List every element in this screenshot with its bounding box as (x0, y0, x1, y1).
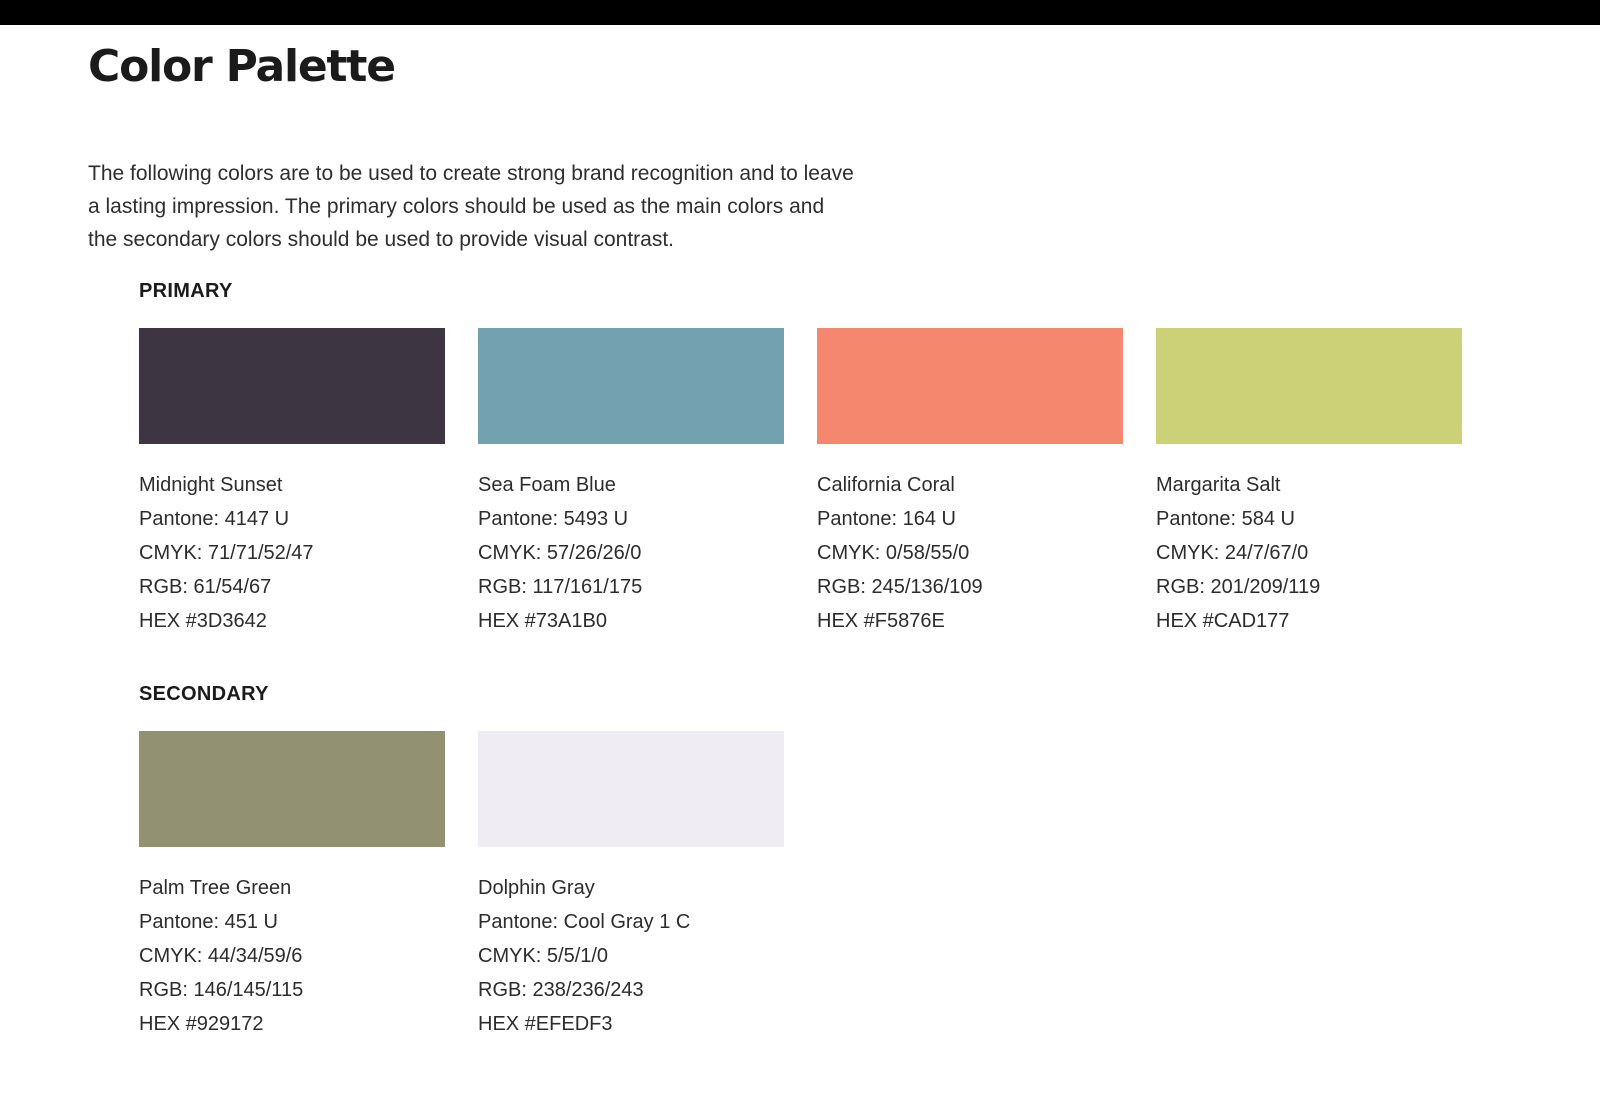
swatch-row-secondary: Palm Tree Green Pantone: 451 U CMYK: 44/… (139, 731, 784, 1041)
intro-line-1: The following colors are to be used to c… (88, 157, 988, 190)
swatch-card[interactable]: Palm Tree Green Pantone: 451 U CMYK: 44/… (139, 731, 445, 1041)
section-primary: PRIMARY Midnight Sunset Pantone: 4147 U … (139, 280, 1462, 638)
swatch-name: Palm Tree Green (139, 871, 445, 905)
swatch-name: Midnight Sunset (139, 468, 445, 502)
section-heading-primary: PRIMARY (139, 280, 1462, 303)
swatch-rgb: RGB: 117/161/175 (478, 570, 784, 604)
swatch-chip[interactable] (139, 731, 445, 847)
swatch-cmyk: CMYK: 57/26/26/0 (478, 536, 784, 570)
swatch-rgb: RGB: 146/145/115 (139, 973, 445, 1007)
section-heading-secondary: SECONDARY (139, 683, 784, 706)
swatch-rgb: RGB: 201/209/119 (1156, 570, 1462, 604)
top-black-bar (0, 0, 1600, 25)
swatch-hex: HEX #F5876E (817, 604, 1123, 638)
swatch-card[interactable]: Sea Foam Blue Pantone: 5493 U CMYK: 57/2… (478, 328, 784, 638)
swatch-rgb: RGB: 238/236/243 (478, 973, 784, 1007)
swatch-pantone: Pantone: 164 U (817, 502, 1123, 536)
swatch-pantone: Pantone: Cool Gray 1 C (478, 905, 784, 939)
swatch-name: Margarita Salt (1156, 468, 1462, 502)
swatch-cmyk: CMYK: 24/7/67/0 (1156, 536, 1462, 570)
swatch-card[interactable]: Dolphin Gray Pantone: Cool Gray 1 C CMYK… (478, 731, 784, 1041)
swatch-pantone: Pantone: 5493 U (478, 502, 784, 536)
swatch-info: Margarita Salt Pantone: 584 U CMYK: 24/7… (1156, 468, 1462, 638)
swatch-rgb: RGB: 61/54/67 (139, 570, 445, 604)
swatch-pantone: Pantone: 4147 U (139, 502, 445, 536)
swatch-name: Sea Foam Blue (478, 468, 784, 502)
intro-line-3: the secondary colors should be used to p… (88, 223, 988, 256)
intro-paragraph: The following colors are to be used to c… (88, 157, 988, 256)
swatch-info: Sea Foam Blue Pantone: 5493 U CMYK: 57/2… (478, 468, 784, 638)
swatch-pantone: Pantone: 584 U (1156, 502, 1462, 536)
color-palette-page: Color Palette The following colors are t… (0, 25, 1600, 1100)
swatch-row-primary: Midnight Sunset Pantone: 4147 U CMYK: 71… (139, 328, 1462, 638)
swatch-hex: HEX #73A1B0 (478, 604, 784, 638)
swatch-chip[interactable] (139, 328, 445, 444)
swatch-cmyk: CMYK: 44/34/59/6 (139, 939, 445, 973)
swatch-hex: HEX #EFEDF3 (478, 1007, 784, 1041)
swatch-name: Dolphin Gray (478, 871, 784, 905)
swatch-info: Midnight Sunset Pantone: 4147 U CMYK: 71… (139, 468, 445, 638)
intro-line-2: a lasting impression. The primary colors… (88, 190, 988, 223)
swatch-cmyk: CMYK: 0/58/55/0 (817, 536, 1123, 570)
page-title: Color Palette (88, 41, 395, 94)
swatch-card[interactable]: Margarita Salt Pantone: 584 U CMYK: 24/7… (1156, 328, 1462, 638)
swatch-pantone: Pantone: 451 U (139, 905, 445, 939)
swatch-chip[interactable] (478, 731, 784, 847)
swatch-name: California Coral (817, 468, 1123, 502)
swatch-hex: HEX #CAD177 (1156, 604, 1462, 638)
section-secondary: SECONDARY Palm Tree Green Pantone: 451 U… (139, 683, 784, 1041)
swatch-cmyk: CMYK: 71/71/52/47 (139, 536, 445, 570)
swatch-cmyk: CMYK: 5/5/1/0 (478, 939, 784, 973)
swatch-chip[interactable] (1156, 328, 1462, 444)
swatch-rgb: RGB: 245/136/109 (817, 570, 1123, 604)
swatch-chip[interactable] (817, 328, 1123, 444)
swatch-info: Dolphin Gray Pantone: Cool Gray 1 C CMYK… (478, 871, 784, 1041)
swatch-card[interactable]: California Coral Pantone: 164 U CMYK: 0/… (817, 328, 1123, 638)
swatch-chip[interactable] (478, 328, 784, 444)
swatch-hex: HEX #929172 (139, 1007, 445, 1041)
swatch-hex: HEX #3D3642 (139, 604, 445, 638)
swatch-card[interactable]: Midnight Sunset Pantone: 4147 U CMYK: 71… (139, 328, 445, 638)
swatch-info: California Coral Pantone: 164 U CMYK: 0/… (817, 468, 1123, 638)
swatch-info: Palm Tree Green Pantone: 451 U CMYK: 44/… (139, 871, 445, 1041)
